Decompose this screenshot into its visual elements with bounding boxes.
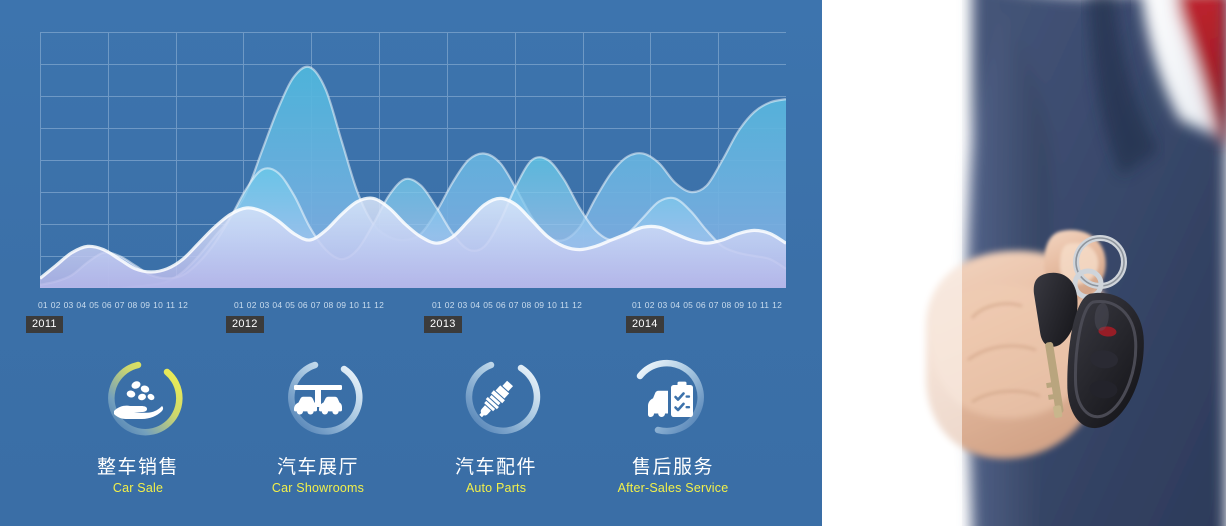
month-tick: 12 bbox=[374, 300, 384, 310]
month-tick: 12 bbox=[178, 300, 188, 310]
month-tick: 04 bbox=[272, 300, 282, 310]
month-tick: 12 bbox=[772, 300, 782, 310]
month-tick: 07 bbox=[115, 300, 125, 310]
month-tick: 10 bbox=[747, 300, 757, 310]
month-tick: 10 bbox=[153, 300, 163, 310]
category-label-en: Car Sale bbox=[48, 481, 228, 496]
year-badge-2014: 2014 bbox=[626, 316, 664, 333]
spark-plug-icon bbox=[447, 350, 545, 448]
month-tick: 01 bbox=[234, 300, 244, 310]
year-badge-2013: 2013 bbox=[424, 316, 462, 333]
category-after-sales-service[interactable]: 售后服务 After-Sales Service bbox=[583, 350, 763, 496]
category-label-en: After-Sales Service bbox=[583, 481, 763, 496]
ring-after-sales-service bbox=[624, 350, 722, 448]
ring-car-sale bbox=[89, 350, 187, 448]
month-tick: 08 bbox=[324, 300, 334, 310]
month-tick: 09 bbox=[534, 300, 544, 310]
month-tick: 08 bbox=[128, 300, 138, 310]
month-tick: 02 bbox=[51, 300, 61, 310]
month-tick: 03 bbox=[658, 300, 668, 310]
showroom-cars-icon bbox=[269, 350, 367, 448]
month-ticks-2013: 010203040506070809101112 bbox=[432, 298, 582, 311]
category-label-cn: 整车销售 bbox=[48, 457, 228, 479]
area-chart-svg bbox=[40, 32, 786, 288]
month-tick: 09 bbox=[140, 300, 150, 310]
category-car-sale[interactable]: 整车销售 Car Sale bbox=[48, 350, 228, 496]
month-tick: 09 bbox=[734, 300, 744, 310]
month-tick: 03 bbox=[64, 300, 74, 310]
year-badge-2012: 2012 bbox=[226, 316, 264, 333]
month-ticks-2014: 010203040506070809101112 bbox=[632, 298, 782, 311]
category-label-en: Auto Parts bbox=[406, 481, 586, 496]
month-tick: 01 bbox=[38, 300, 48, 310]
category-label-en: Car Showrooms bbox=[228, 481, 408, 496]
month-tick: 03 bbox=[260, 300, 270, 310]
month-tick: 08 bbox=[722, 300, 732, 310]
month-ticks-2012: 010203040506070809101112 bbox=[234, 298, 384, 311]
ring-auto-parts bbox=[447, 350, 545, 448]
month-tick: 04 bbox=[670, 300, 680, 310]
year-badge-2011: 2011 bbox=[26, 316, 63, 333]
month-tick: 07 bbox=[509, 300, 519, 310]
month-tick: 11 bbox=[362, 300, 371, 310]
month-tick: 01 bbox=[632, 300, 642, 310]
month-tick: 05 bbox=[89, 300, 99, 310]
businessman-photo bbox=[822, 0, 1226, 526]
month-ticks-2011: 010203040506070809101112 bbox=[38, 298, 188, 311]
month-tick: 05 bbox=[285, 300, 295, 310]
month-tick: 10 bbox=[547, 300, 557, 310]
month-tick: 07 bbox=[311, 300, 321, 310]
month-tick: 02 bbox=[445, 300, 455, 310]
screenshot-root: 010203040506070809101112 010203040506070… bbox=[0, 0, 1226, 526]
category-label-cn: 汽车配件 bbox=[406, 457, 586, 479]
category-label-cn: 汽车展厅 bbox=[228, 457, 408, 479]
month-tick: 02 bbox=[247, 300, 257, 310]
month-tick: 12 bbox=[572, 300, 582, 310]
area-chart bbox=[40, 32, 786, 288]
category-auto-parts[interactable]: 汽车配件 Auto Parts bbox=[406, 350, 586, 496]
month-tick: 06 bbox=[696, 300, 706, 310]
month-tick: 05 bbox=[483, 300, 493, 310]
month-tick: 11 bbox=[760, 300, 769, 310]
ring-car-showrooms bbox=[269, 350, 367, 448]
month-tick: 03 bbox=[458, 300, 468, 310]
month-tick: 04 bbox=[76, 300, 86, 310]
category-label-cn: 售后服务 bbox=[583, 457, 763, 479]
stats-panel: 010203040506070809101112 010203040506070… bbox=[0, 0, 822, 526]
month-tick: 04 bbox=[470, 300, 480, 310]
month-tick: 07 bbox=[709, 300, 719, 310]
month-tick: 01 bbox=[432, 300, 442, 310]
month-tick: 11 bbox=[560, 300, 569, 310]
month-tick: 08 bbox=[522, 300, 532, 310]
month-tick: 11 bbox=[166, 300, 175, 310]
month-tick: 02 bbox=[645, 300, 655, 310]
category-car-showrooms[interactable]: 汽车展厅 Car Showrooms bbox=[228, 350, 408, 496]
month-tick: 06 bbox=[298, 300, 308, 310]
month-tick: 10 bbox=[349, 300, 359, 310]
chart-series-layer bbox=[40, 67, 786, 288]
month-tick: 05 bbox=[683, 300, 693, 310]
category-row: 整车销售 Car Sale bbox=[0, 350, 822, 500]
hand-with-coins-icon bbox=[89, 350, 187, 448]
car-checklist-icon bbox=[624, 350, 722, 448]
month-tick: 06 bbox=[496, 300, 506, 310]
month-tick: 09 bbox=[336, 300, 346, 310]
month-tick: 06 bbox=[102, 300, 112, 310]
